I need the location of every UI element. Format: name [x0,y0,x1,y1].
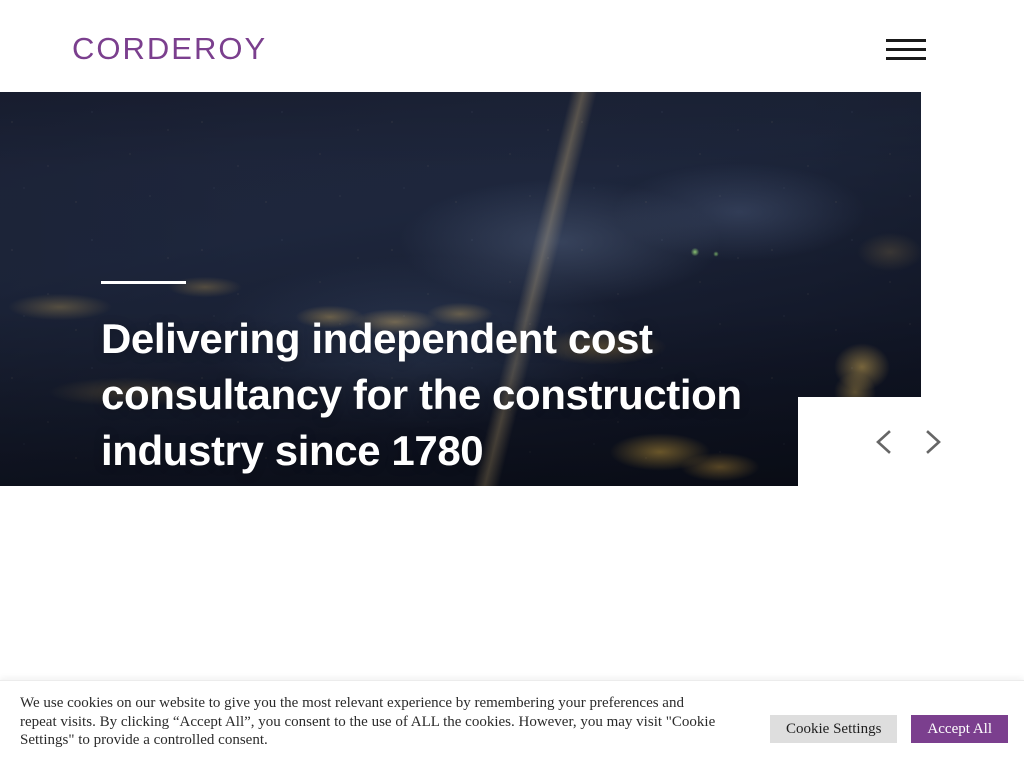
hero-content: Delivering independent cost consultancy … [101,281,841,479]
slider-next-icon[interactable] [911,420,955,464]
cookie-consent-banner: We use cookies on our website to give yo… [0,680,1024,768]
hero-accent-rule [101,281,186,284]
hamburger-bar-bottom [886,57,926,60]
cookie-consent-message: We use cookies on our website to give yo… [20,694,720,750]
hamburger-bar-top [886,39,926,42]
hero-headline: Delivering independent cost consultancy … [101,311,841,479]
hero-slider-nav [798,397,1024,486]
cookie-settings-button[interactable]: Cookie Settings [770,715,897,743]
accept-all-cookies-button[interactable]: Accept All [911,715,1008,743]
hamburger-menu-icon[interactable] [886,34,926,66]
hamburger-bar-middle [886,48,926,51]
page-root: Delivering independent cost consultancy … [0,0,1024,768]
site-header: CORDEROY [0,0,1024,92]
slider-prev-icon[interactable] [862,420,906,464]
cookie-banner-actions: Cookie Settings Accept All [770,715,1008,743]
brand-logo[interactable]: CORDEROY [72,29,267,69]
